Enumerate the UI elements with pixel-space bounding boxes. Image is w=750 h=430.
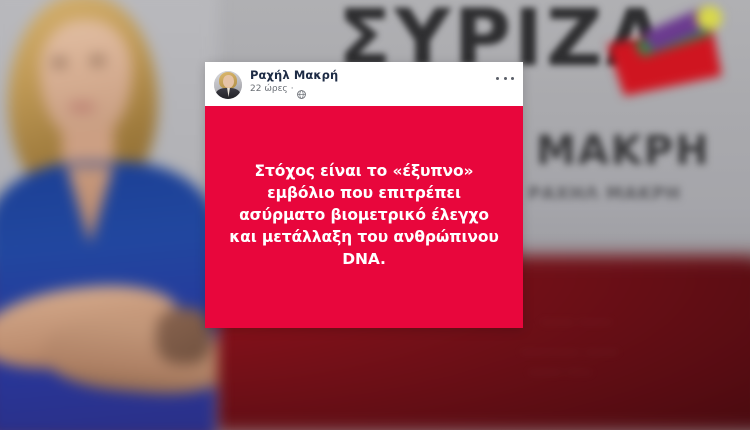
post-header-text: Ραχήλ Μακρή 22 ώρες ·: [250, 68, 338, 95]
screenshot-root: ΣΥΡΙΖΑ ΜΑΚΡΗ ΡΑΧΗΛ ΜΑΚΡΗ ........ ......…: [0, 0, 750, 430]
ellipsis-dot-1: [496, 77, 499, 80]
flag-yellow-dot: [696, 6, 722, 30]
banner-fullname: ΡΑΧΗΛ ΜΑΚΡΗ: [528, 184, 681, 204]
avatar[interactable]: [214, 71, 242, 99]
public-globe-icon[interactable]: [297, 85, 306, 94]
post-header: Ραχήλ Μακρή 22 ώρες ·: [205, 62, 523, 106]
post-timestamp[interactable]: 22 ώρες: [250, 85, 288, 95]
post-author-name[interactable]: Ραχήλ Μακρή: [250, 69, 338, 82]
ellipsis-dot-3: [511, 77, 514, 80]
portrait-image: [0, 0, 218, 430]
post-text-line-4: και μετάλλαξη του ανθρώπινου: [215, 226, 513, 248]
avatar-face: [223, 75, 234, 88]
ellipsis-dot-2: [504, 77, 507, 80]
portrait-face: [40, 20, 132, 140]
portrait-eye-right: [90, 56, 105, 65]
banner-footer-line-3: ........ ......: [528, 362, 728, 376]
syriza-flag-logo-icon: [592, 2, 742, 98]
meta-separator: ·: [291, 85, 294, 95]
post-text-line-3: ασύρματο βιομετρικό έλεγχο: [215, 204, 513, 226]
portrait-eye-left: [52, 58, 67, 67]
banner-footer-line-1: ........ ........: [540, 312, 740, 326]
portrait-lips: [68, 102, 96, 112]
post-text: Στόχος είναι το «έξυπνο» εμβόλιο που επι…: [205, 160, 523, 270]
facebook-post-card: Ραχήλ Μακρή 22 ώρες ·: [205, 62, 523, 328]
post-text-line-1: Στόχος είναι το «έξυπνο»: [215, 160, 513, 182]
post-text-line-2: εμβόλιο που επιτρέπει: [215, 182, 513, 204]
post-meta-row: 22 ώρες ·: [250, 85, 338, 95]
post-body: Στόχος είναι το «έξυπνο» εμβόλιο που επι…: [205, 106, 523, 328]
banner-surname: ΜΑΚΡΗ: [536, 128, 711, 174]
portrait-hand: [156, 308, 212, 364]
banner-footer-line-2: .............. ........: [520, 342, 735, 356]
post-text-line-5: DNA.: [215, 248, 513, 270]
ellipsis-menu-icon[interactable]: [496, 73, 514, 83]
